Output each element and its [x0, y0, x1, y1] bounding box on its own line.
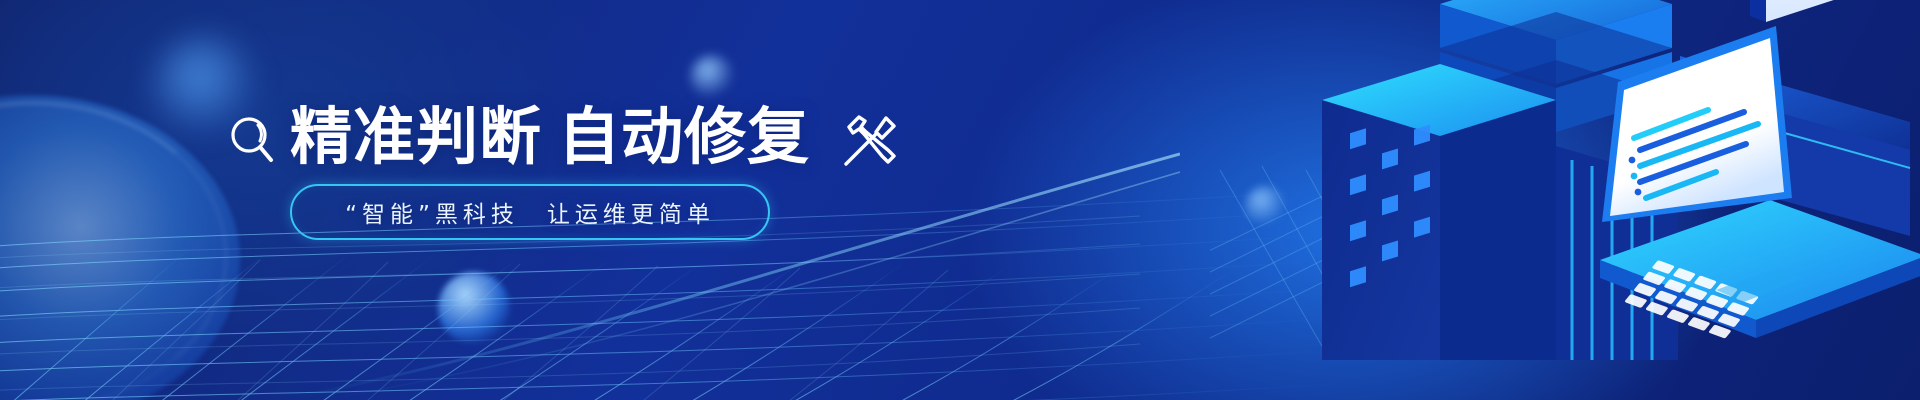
laptop-base-side2-icon	[1756, 256, 1920, 338]
isometric-city-laptop-illustration	[1210, 0, 1920, 400]
wrench-screwdriver-icon	[838, 112, 900, 170]
building-striped-block-icon	[1556, 146, 1678, 360]
laptop-base-side-icon	[1600, 260, 1756, 338]
subtitle-text: “智能”黑科技 让运维更简单	[290, 184, 770, 240]
laptop-device-icon	[1602, 26, 1804, 339]
headline-row: 精准判断自动修复	[228, 104, 900, 170]
back-slab-icon	[1680, 80, 1910, 236]
building-tower-icon	[1322, 64, 1556, 360]
headline-part2: 自动修复	[558, 100, 810, 173]
orb-small-upper-icon	[690, 55, 734, 99]
laptop-base-slab-icon	[1600, 200, 1920, 320]
iso-grid-floor-icon	[1210, 166, 1450, 360]
page-title: 精准判断自动修复	[290, 105, 810, 169]
document-card-icon	[1750, 0, 1846, 22]
laptop-screen-code-icon	[1629, 110, 1758, 198]
laptop-trackpad-icon	[1716, 268, 1804, 302]
orb-left-large-icon	[0, 95, 240, 400]
search-magnifier-icon	[228, 114, 274, 164]
building-windows-icon	[1350, 125, 1430, 287]
orb-center-icon	[438, 272, 510, 344]
laptop-keyboard-icon	[1624, 260, 1759, 339]
promo-banner: 精准判断自动修复 “智能”黑科技 让运维更简单	[0, 0, 1920, 400]
headline-part1: 精准判断	[290, 100, 542, 173]
slab-edge-glow-icon	[1702, 110, 1910, 168]
building-tower-cap-icon	[1440, 0, 1672, 132]
orb-right-icon	[1245, 186, 1285, 226]
background-decor-layer	[0, 0, 1920, 400]
back-slab-top-icon	[1680, 56, 1910, 150]
